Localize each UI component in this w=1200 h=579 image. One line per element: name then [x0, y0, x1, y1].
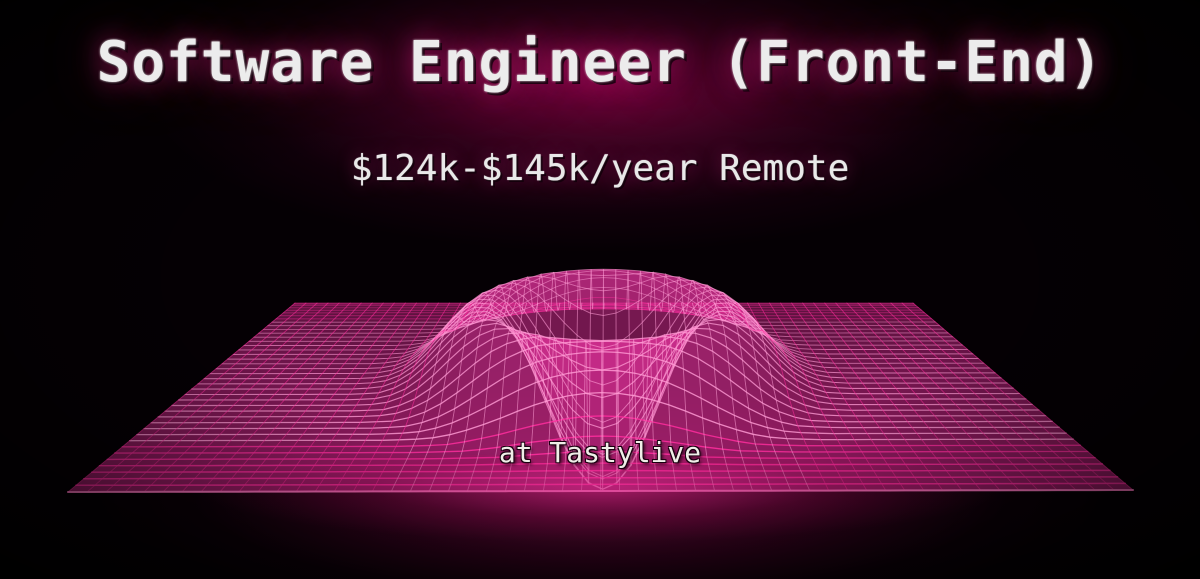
company-name: at Tastylive: [0, 436, 1200, 469]
job-title: Software Engineer (Front-End): [0, 30, 1200, 95]
ambient-glow-front-edge: [40, 455, 1160, 579]
poster-canvas: Software Engineer (Front-End) $124k-$145…: [0, 0, 1200, 579]
job-compensation: $124k-$145k/year Remote: [0, 148, 1200, 189]
